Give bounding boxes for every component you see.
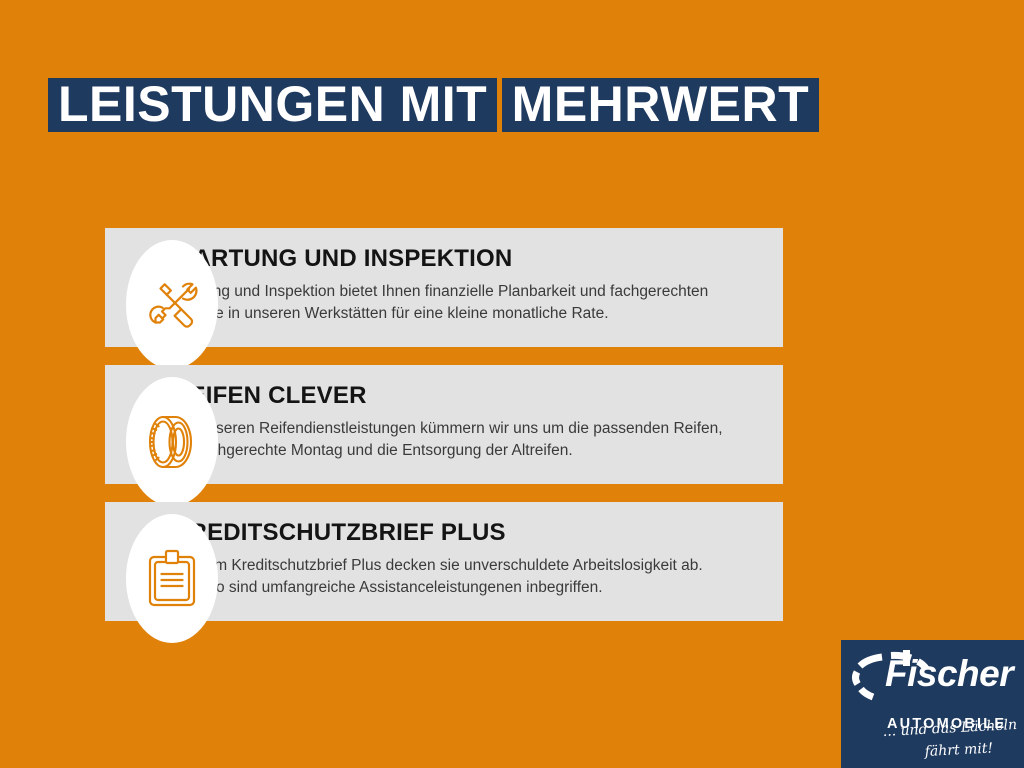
service-card-wartung-und-inspektion[interactable]: WARTUNG UND INSPEKTION Wartung und Inspe… [105,228,783,347]
tire-icon [126,377,218,506]
card-text-block: WARTUNG UND INSPEKTION Wartung und Inspe… [172,245,761,325]
poster-canvas: LEISTUNGEN MIT MEHRWERT WARTUNG U [0,0,1024,768]
logo-tagline: ... und das Lächeln fährt mit! [881,714,1021,764]
card-title: WARTUNG UND INSPEKTION [172,245,761,273]
logo-tagline-line-2: fährt mit! [923,740,993,760]
wrench-screwdriver-icon [126,240,218,369]
card-body: Wartung und Inspektion bietet Ihnen fina… [172,281,761,325]
page-title-line-2: MEHRWERT [502,78,820,132]
card-text-block: KREDITSCHUTZBRIEF PLUS Mit dem Kreditsch… [172,519,761,599]
logo-tagline-line-1: ... und das Lächeln [882,717,1017,740]
card-body: Mit dem Kreditschutzbrief Plus decken si… [172,555,761,599]
card-title: REIFEN CLEVER [172,382,761,410]
card-title: KREDITSCHUTZBRIEF PLUS [172,519,761,547]
service-card-reifen-clever[interactable]: REIFEN CLEVER Bei unseren Reifendienstle… [105,365,783,484]
card-text-block: REIFEN CLEVER Bei unseren Reifendienstle… [172,382,761,462]
card-body: Bei unseren Reifendienstleistungen kümme… [172,418,761,462]
page-title-line-1: LEISTUNGEN MIT [48,78,497,132]
brand-logo[interactable]: Fischer AUTOMOBILE ... und das Lächeln f… [841,640,1024,768]
clipboard-icon [126,514,218,643]
service-card-kreditschutzbrief-plus[interactable]: KREDITSCHUTZBRIEF PLUS Mit dem Kreditsch… [105,502,783,621]
page-title: LEISTUNGEN MIT MEHRWERT [48,66,819,132]
logo-wordmark: Fischer [885,654,1013,694]
